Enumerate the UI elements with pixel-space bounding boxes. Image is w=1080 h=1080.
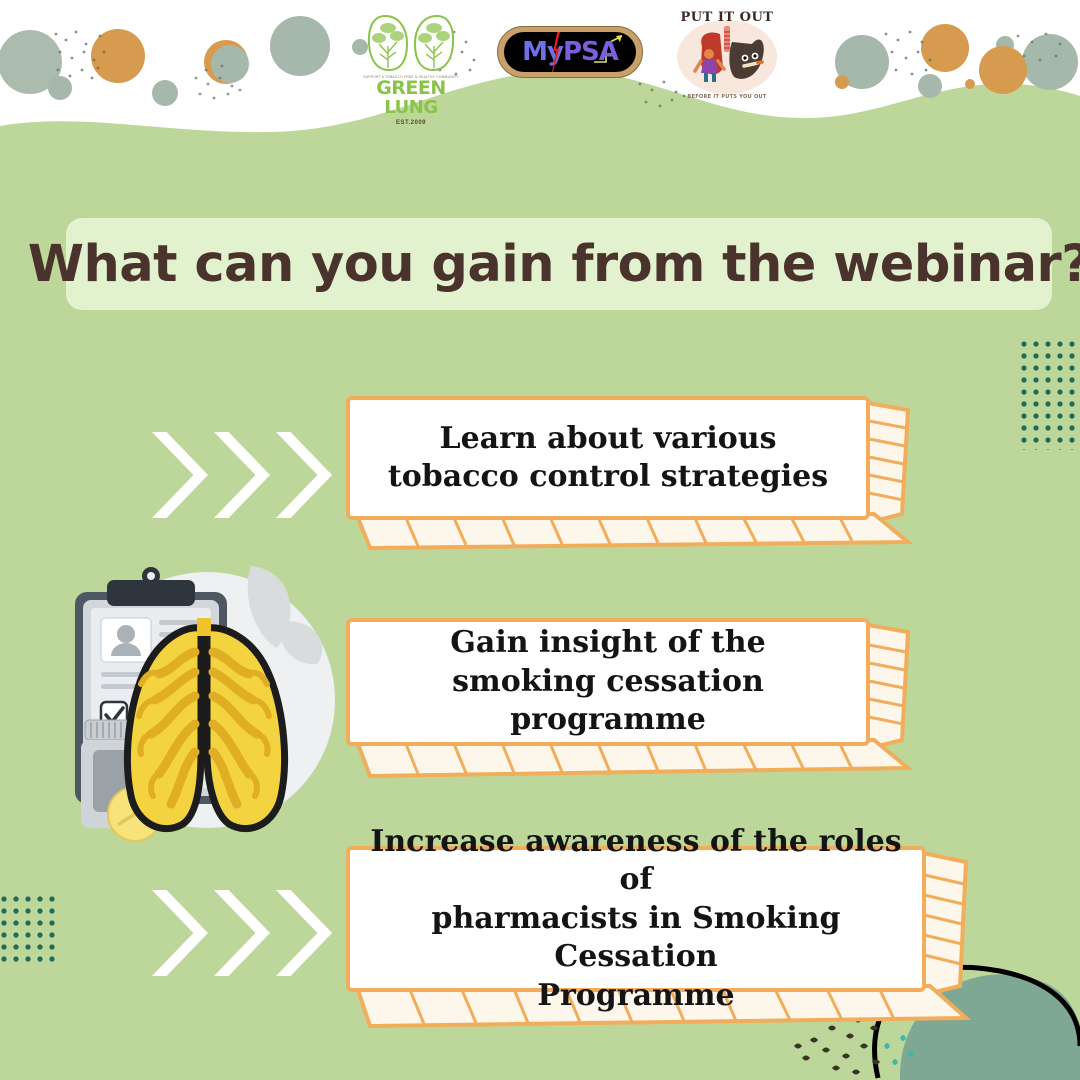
green-lung-logo: SUPPORT A TOBACCO FREE & HEALTHY COMMUNI…	[352, 12, 470, 108]
page-title-banner: What can you gain from the webinar?	[66, 218, 1052, 310]
card-3-line-2: pharmacists in Smoking Cessation	[368, 900, 904, 977]
benefit-card-2: Gain insight of the smoking cessation pr…	[346, 618, 916, 784]
card-2-line-2: smoking cessation programme	[368, 663, 848, 740]
mypsa-wordmark: MyPSA	[522, 37, 618, 67]
put-it-out-subtitle: BEFORE IT PUTS YOU OUT	[668, 94, 786, 100]
put-it-out-title: PUT IT OUT	[668, 10, 786, 25]
chevrons-card-3	[152, 890, 332, 976]
benefit-card-3: Increase awareness of the roles of pharm…	[346, 846, 974, 1036]
mypsa-logo: MyPSA	[497, 26, 643, 78]
mypsa-logo-frame: MyPSA	[497, 26, 643, 78]
mypsa-logo-inner: MyPSA	[504, 32, 636, 72]
card-3-line-1: Increase awareness of the roles of	[368, 823, 904, 900]
chevron-right-icon	[214, 890, 270, 976]
card-2-text: Gain insight of the smoking cessation pr…	[350, 624, 866, 739]
green-lung-word-bottom: LUNG	[352, 99, 470, 116]
green-lung-word-top: GREEN	[376, 77, 446, 99]
dot-grid-left	[0, 895, 58, 967]
card-3-text: Increase awareness of the roles of pharm…	[350, 823, 922, 1015]
card-3-face: Increase awareness of the roles of pharm…	[346, 846, 926, 992]
chevron-right-icon	[152, 890, 208, 976]
chevron-right-icon	[214, 432, 270, 518]
lungs-clipboard-illustration	[55, 552, 355, 852]
logo-row: SUPPORT A TOBACCO FREE & HEALTHY COMMUNI…	[0, 0, 1080, 110]
card-2-line-1: Gain insight of the	[368, 624, 848, 662]
chevrons-card-1	[152, 432, 332, 518]
card-3-line-3: Programme	[368, 977, 904, 1015]
green-lung-established: EST.2009	[352, 120, 470, 126]
card-1-face: Learn about various tobacco control stra…	[346, 396, 870, 520]
page-title: What can you gain from the webinar?	[28, 235, 1080, 294]
chevron-right-icon	[276, 432, 332, 518]
put-it-out-logo: PUT IT OUT BEFORE IT PUTS YOU OUT	[668, 6, 786, 102]
chevron-right-icon	[276, 890, 332, 976]
card-1-text: Learn about various tobacco control stra…	[370, 420, 846, 497]
poster-canvas: SUPPORT A TOBACCO FREE & HEALTHY COMMUNI…	[0, 0, 1080, 1080]
chevron-right-icon	[152, 432, 208, 518]
dot-grid-right	[1020, 340, 1080, 450]
green-lung-mark	[365, 12, 457, 74]
card-2-face: Gain insight of the smoking cessation pr…	[346, 618, 870, 746]
card-1-line-1: Learn about various	[388, 420, 828, 458]
benefit-card-1: Learn about various tobacco control stra…	[346, 396, 916, 556]
card-1-line-2: tobacco control strategies	[388, 458, 828, 496]
